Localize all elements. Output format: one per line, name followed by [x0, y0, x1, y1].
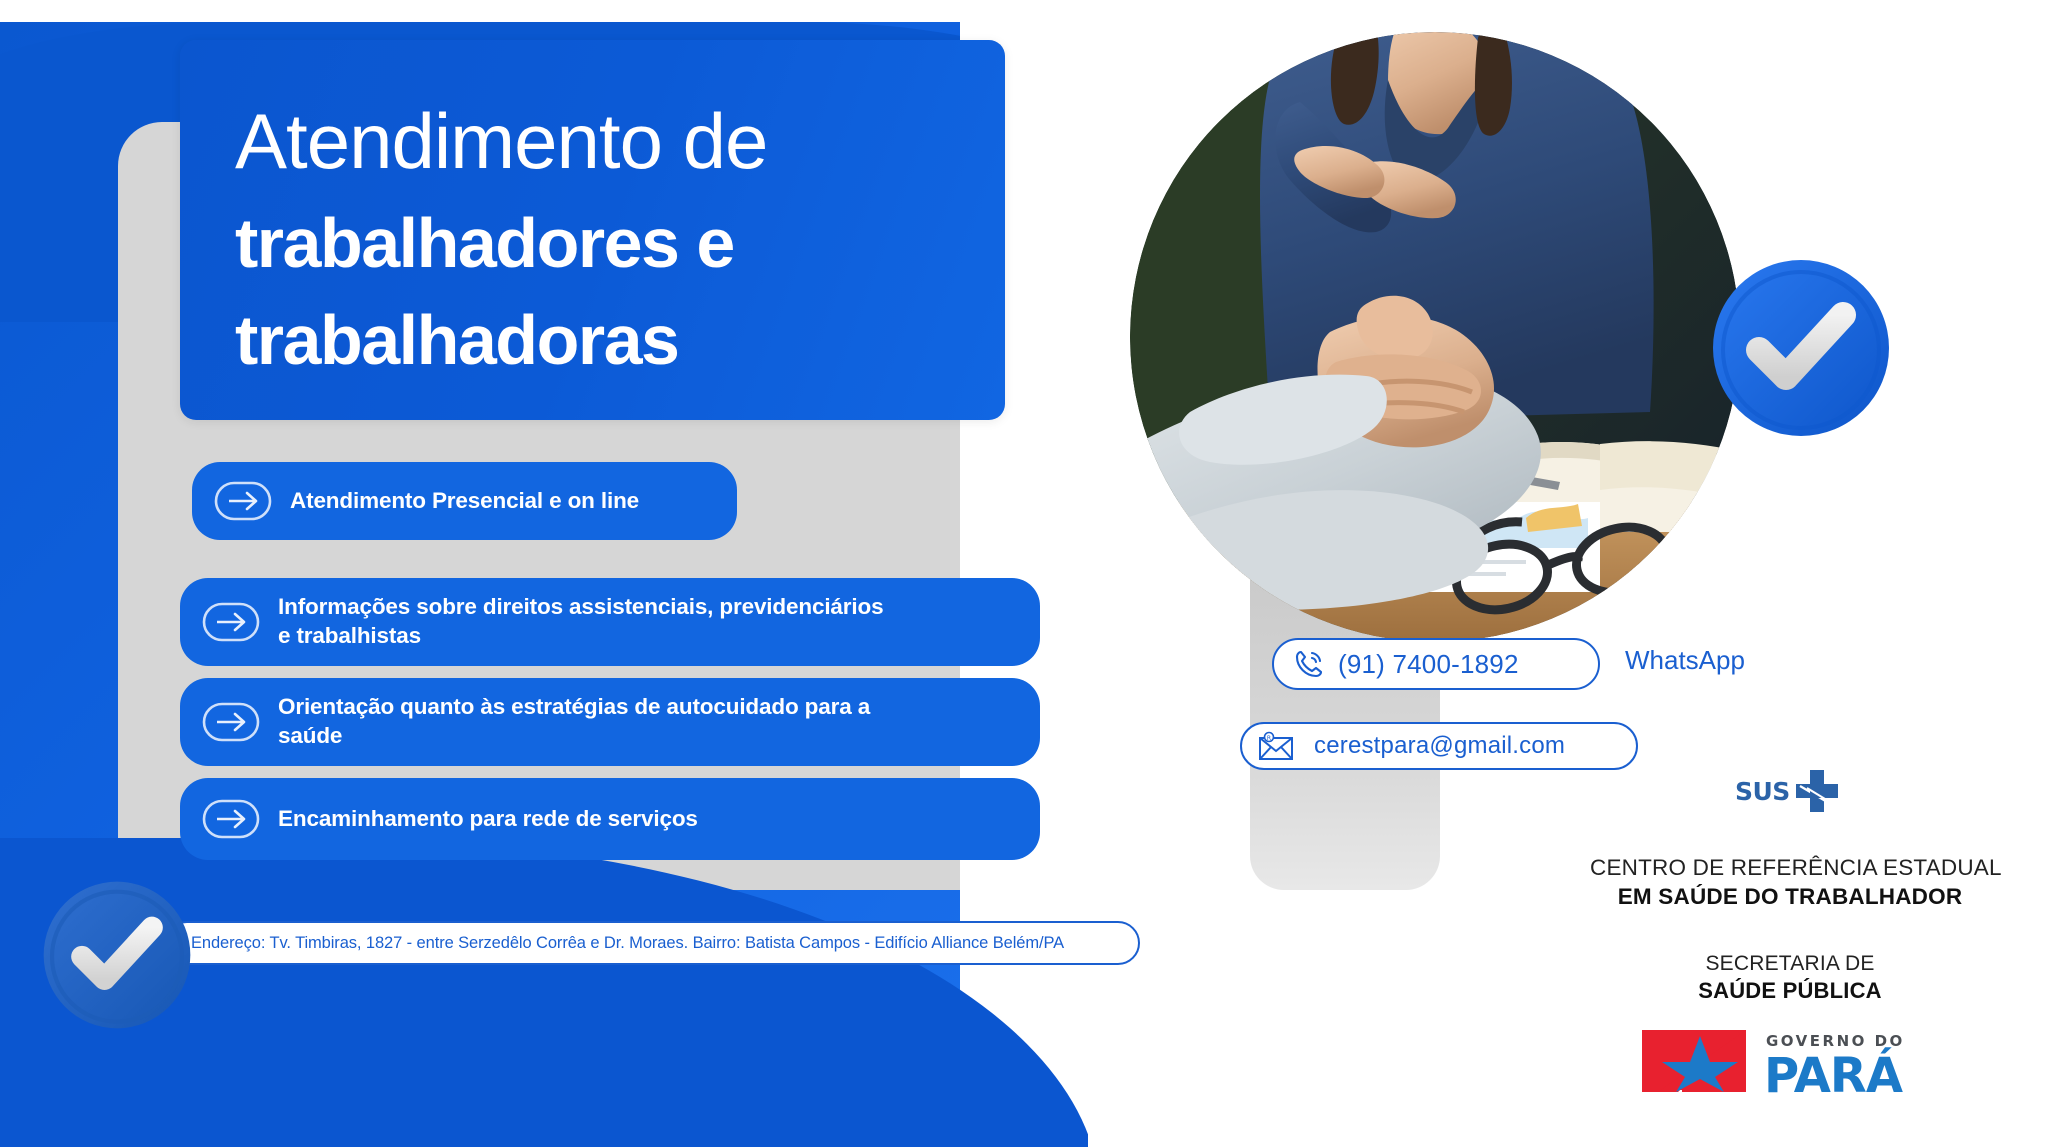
feature-pill-label: Atendimento Presencial e on line	[290, 487, 639, 516]
feature-pill-label: Orientação quanto às estratégias de auto…	[278, 693, 870, 751]
sus-cross-icon	[1794, 768, 1840, 814]
arrow-right-icon	[202, 799, 260, 839]
email-address: cerestpara@gmail.com	[1314, 732, 1565, 760]
background-white-bottom-right	[1088, 890, 2048, 1147]
title-line-1: Atendimento de	[235, 102, 767, 180]
cerest-line-2: EM SAÚDE DO TRABALHADOR	[1590, 884, 1990, 910]
governo-do-para-logo: GOVERNO DO PARÁ	[1638, 1022, 1938, 1100]
feature-pill[interactable]: Informações sobre direitos assistenciais…	[180, 578, 1040, 666]
address-text: Endereço: Tv. Timbiras, 1827 - entre Ser…	[191, 934, 1064, 953]
sus-logo: SUS	[1735, 768, 1840, 814]
feature-pill[interactable]: Orientação quanto às estratégias de auto…	[180, 678, 1040, 766]
title-card: Atendimento de trabalhadores e trabalhad…	[180, 40, 1005, 420]
envelope-icon: R	[1258, 731, 1294, 761]
sespa-line-1: SECRETARIA DE	[1590, 952, 1990, 976]
check-circle-icon	[42, 880, 192, 1030]
title-line-2: trabalhadores e	[235, 208, 734, 278]
phone-call-icon	[1292, 647, 1326, 681]
arrow-right-icon	[214, 481, 272, 521]
para-state-star-icon: GOVERNO DO PARÁ	[1638, 1022, 1938, 1100]
svg-text:PARÁ: PARÁ	[1764, 1047, 1903, 1100]
svg-text:R: R	[1267, 735, 1271, 742]
poster-canvas: Atendimento de trabalhadores e trabalhad…	[0, 0, 2048, 1147]
sespa-title: SECRETARIA DE SAÚDE PÚBLICA	[1590, 952, 1990, 1004]
phone-number: (91) 7400-1892	[1338, 649, 1519, 680]
consultation-photo	[1130, 32, 1740, 642]
sespa-line-2: SAÚDE PÚBLICA	[1590, 978, 1990, 1004]
phone-chip[interactable]: (91) 7400-1892	[1272, 638, 1600, 690]
sus-wordmark: SUS	[1735, 777, 1790, 806]
arrow-right-icon	[202, 702, 260, 742]
whatsapp-label: WhatsApp	[1625, 645, 1745, 676]
feature-pill-label: Encaminhamento para rede de serviços	[278, 805, 698, 834]
address-bar: Endereço: Tv. Timbiras, 1827 - entre Ser…	[165, 921, 1140, 965]
feature-pill[interactable]: Atendimento Presencial e on line	[192, 462, 737, 540]
arrow-right-icon	[202, 602, 260, 642]
email-chip[interactable]: R cerestpara@gmail.com	[1240, 722, 1638, 770]
cerest-line-1: CENTRO DE REFERÊNCIA ESTADUAL	[1590, 855, 1990, 881]
feature-pill-label: Informações sobre direitos assistenciais…	[278, 593, 883, 651]
feature-pill[interactable]: Encaminhamento para rede de serviços	[180, 778, 1040, 860]
cerest-title: CENTRO DE REFERÊNCIA ESTADUAL EM SAÚDE D…	[1590, 855, 1990, 910]
title-line-3: trabalhadoras	[235, 305, 678, 375]
check-circle-icon	[1711, 258, 1891, 438]
